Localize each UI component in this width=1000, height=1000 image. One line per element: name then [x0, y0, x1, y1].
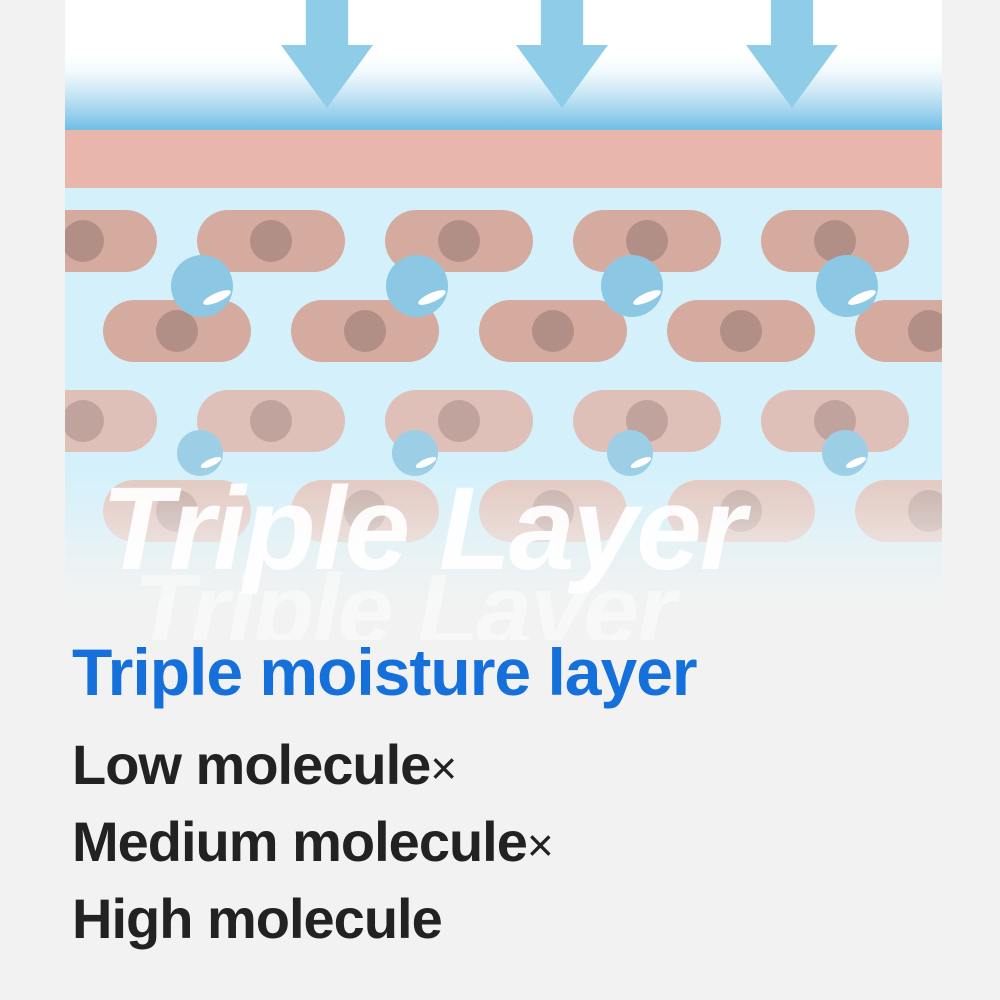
cell-nucleus — [532, 490, 574, 532]
skin-cell — [65, 390, 157, 452]
water-droplet — [816, 255, 878, 317]
skin-cell — [855, 300, 942, 362]
skin-cell — [291, 480, 439, 542]
multiply-sign-medium: × — [527, 819, 553, 871]
water-droplet — [171, 255, 233, 317]
water-droplet — [386, 255, 448, 317]
list-item-low-molecule: Low molecule× — [72, 726, 972, 803]
skin-cell — [479, 480, 627, 542]
text-block: Triple moisture layer Low molecule× Medi… — [72, 636, 972, 958]
water-droplet — [822, 430, 868, 476]
cell-nucleus — [344, 490, 386, 532]
cell-nucleus — [250, 400, 292, 442]
skin-cell — [667, 480, 815, 542]
cell-nucleus — [438, 400, 480, 442]
page-title: Triple moisture layer — [72, 636, 972, 710]
molecule-label-low: Low molecule — [72, 733, 430, 796]
epidermis-band — [65, 130, 942, 188]
skin-cell — [667, 300, 815, 362]
cell-nucleus — [908, 310, 942, 352]
page-root: Triple Layer Triple Layer Triple moistur… — [0, 0, 1000, 1000]
list-item-medium-molecule: Medium molecule× — [72, 803, 972, 880]
water-droplet — [177, 430, 223, 476]
skin-cell — [103, 480, 251, 542]
cell-nucleus — [156, 310, 198, 352]
skin-cell — [855, 480, 942, 542]
list-item-high-molecule: High molecule — [72, 880, 972, 957]
cell-nucleus — [720, 310, 762, 352]
cell-nucleus — [908, 490, 942, 532]
molecule-label-medium: Medium molecule — [72, 810, 527, 873]
water-droplet — [392, 430, 438, 476]
cell-nucleus — [720, 490, 762, 532]
cell-nucleus — [344, 310, 386, 352]
cell-nucleus — [532, 310, 574, 352]
cell-nucleus — [438, 220, 480, 262]
skin-cell — [479, 300, 627, 362]
multiply-sign-low: × — [430, 742, 456, 794]
skin-cross-section-illustration: Triple Layer Triple Layer — [65, 0, 942, 640]
skin-cell — [65, 210, 157, 272]
molecule-label-high: High molecule — [72, 887, 442, 950]
cell-nucleus — [65, 220, 104, 262]
cell-nucleus — [156, 490, 198, 532]
cell-nucleus — [65, 400, 104, 442]
cell-nucleus — [250, 220, 292, 262]
water-droplet — [601, 255, 663, 317]
water-droplet — [607, 430, 653, 476]
skin-cell — [103, 300, 251, 362]
